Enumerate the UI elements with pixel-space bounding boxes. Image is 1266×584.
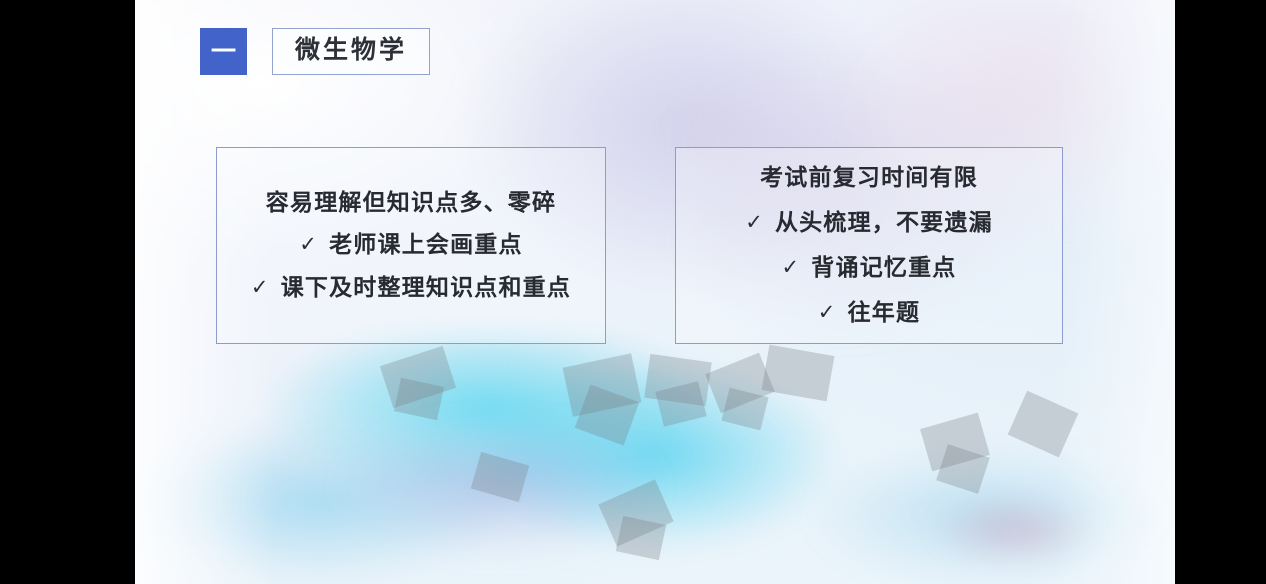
video-player-stage: 一 微生物学 容易理解但知识点多、零碎 ✓ 老师课上会画重点 ✓ 课下及时整理知… <box>0 0 1266 584</box>
panel-line-text: 老师课上会画重点 <box>329 233 523 257</box>
panel-line: ✓ 老师课上会画重点 <box>299 233 522 257</box>
watercolor-magenta-blob <box>895 470 1135 584</box>
content-panel-right: 考试前复习时间有限 ✓ 从头梳理，不要遗漏 ✓ 背诵记忆重点 ✓ 往年题 <box>675 147 1063 344</box>
graduation-cap-icon <box>644 354 712 406</box>
watercolor-cyan-blob-2 <box>135 400 595 584</box>
panel-line: ✓ 课下及时整理知识点和重点 <box>251 276 571 300</box>
watercolor-cyan-blob-3 <box>775 430 1175 584</box>
panel-line-text: 容易理解但知识点多、零碎 <box>266 191 556 215</box>
graduation-cap-icon <box>721 388 768 431</box>
graduation-cap-icon <box>936 444 990 494</box>
presentation-slide: 一 微生物学 容易理解但知识点多、零碎 ✓ 老师课上会画重点 ✓ 课下及时整理知… <box>135 0 1175 584</box>
panel-line-text: 考试前复习时间有限 <box>760 166 978 190</box>
check-icon: ✓ <box>745 211 764 233</box>
graduation-cap-icon <box>920 413 990 472</box>
section-number-badge: 一 <box>200 28 247 75</box>
graduation-cap-icon <box>655 381 706 427</box>
graduation-cap-icon <box>575 384 640 445</box>
check-icon: ✓ <box>299 233 318 255</box>
letterbox-bar-left <box>0 0 135 584</box>
graduation-cap-icon <box>563 353 642 416</box>
watercolor-cyan-blob-1 <box>195 330 835 584</box>
graduation-cap-icon <box>762 345 835 402</box>
panel-line-text: 背诵记忆重点 <box>811 256 956 280</box>
panel-line: 考试前复习时间有限 <box>760 166 978 190</box>
graduation-cap-icon <box>598 479 673 546</box>
panel-line: ✓ 从头梳理，不要遗漏 <box>745 211 993 235</box>
check-icon: ✓ <box>251 276 270 298</box>
graduation-cap-icon <box>380 346 456 408</box>
panel-line: 容易理解但知识点多、零碎 <box>266 191 556 215</box>
graduation-cap-icon <box>394 378 444 420</box>
panel-line: ✓ 往年题 <box>818 301 920 325</box>
graduation-cap-icon <box>1008 391 1079 458</box>
graduation-cap-icon <box>705 353 775 414</box>
check-icon: ✓ <box>818 301 837 323</box>
graduation-cap-icon <box>616 516 667 560</box>
panel-line-text: 从头梳理，不要遗漏 <box>775 211 993 235</box>
panel-line: ✓ 背诵记忆重点 <box>782 256 957 280</box>
slide-header: 一 微生物学 <box>200 28 430 75</box>
letterbox-bar-right <box>1175 0 1266 584</box>
panel-line-text: 往年题 <box>848 301 921 325</box>
watercolor-blue-blob <box>315 400 735 584</box>
check-icon: ✓ <box>782 256 801 278</box>
background-edge-fade-right <box>1055 0 1175 584</box>
content-panel-left: 容易理解但知识点多、零碎 ✓ 老师课上会画重点 ✓ 课下及时整理知识点和重点 <box>216 147 606 344</box>
panel-line-text: 课下及时整理知识点和重点 <box>281 276 571 300</box>
graduation-cap-icon <box>471 452 530 502</box>
page-title: 微生物学 <box>272 28 430 75</box>
